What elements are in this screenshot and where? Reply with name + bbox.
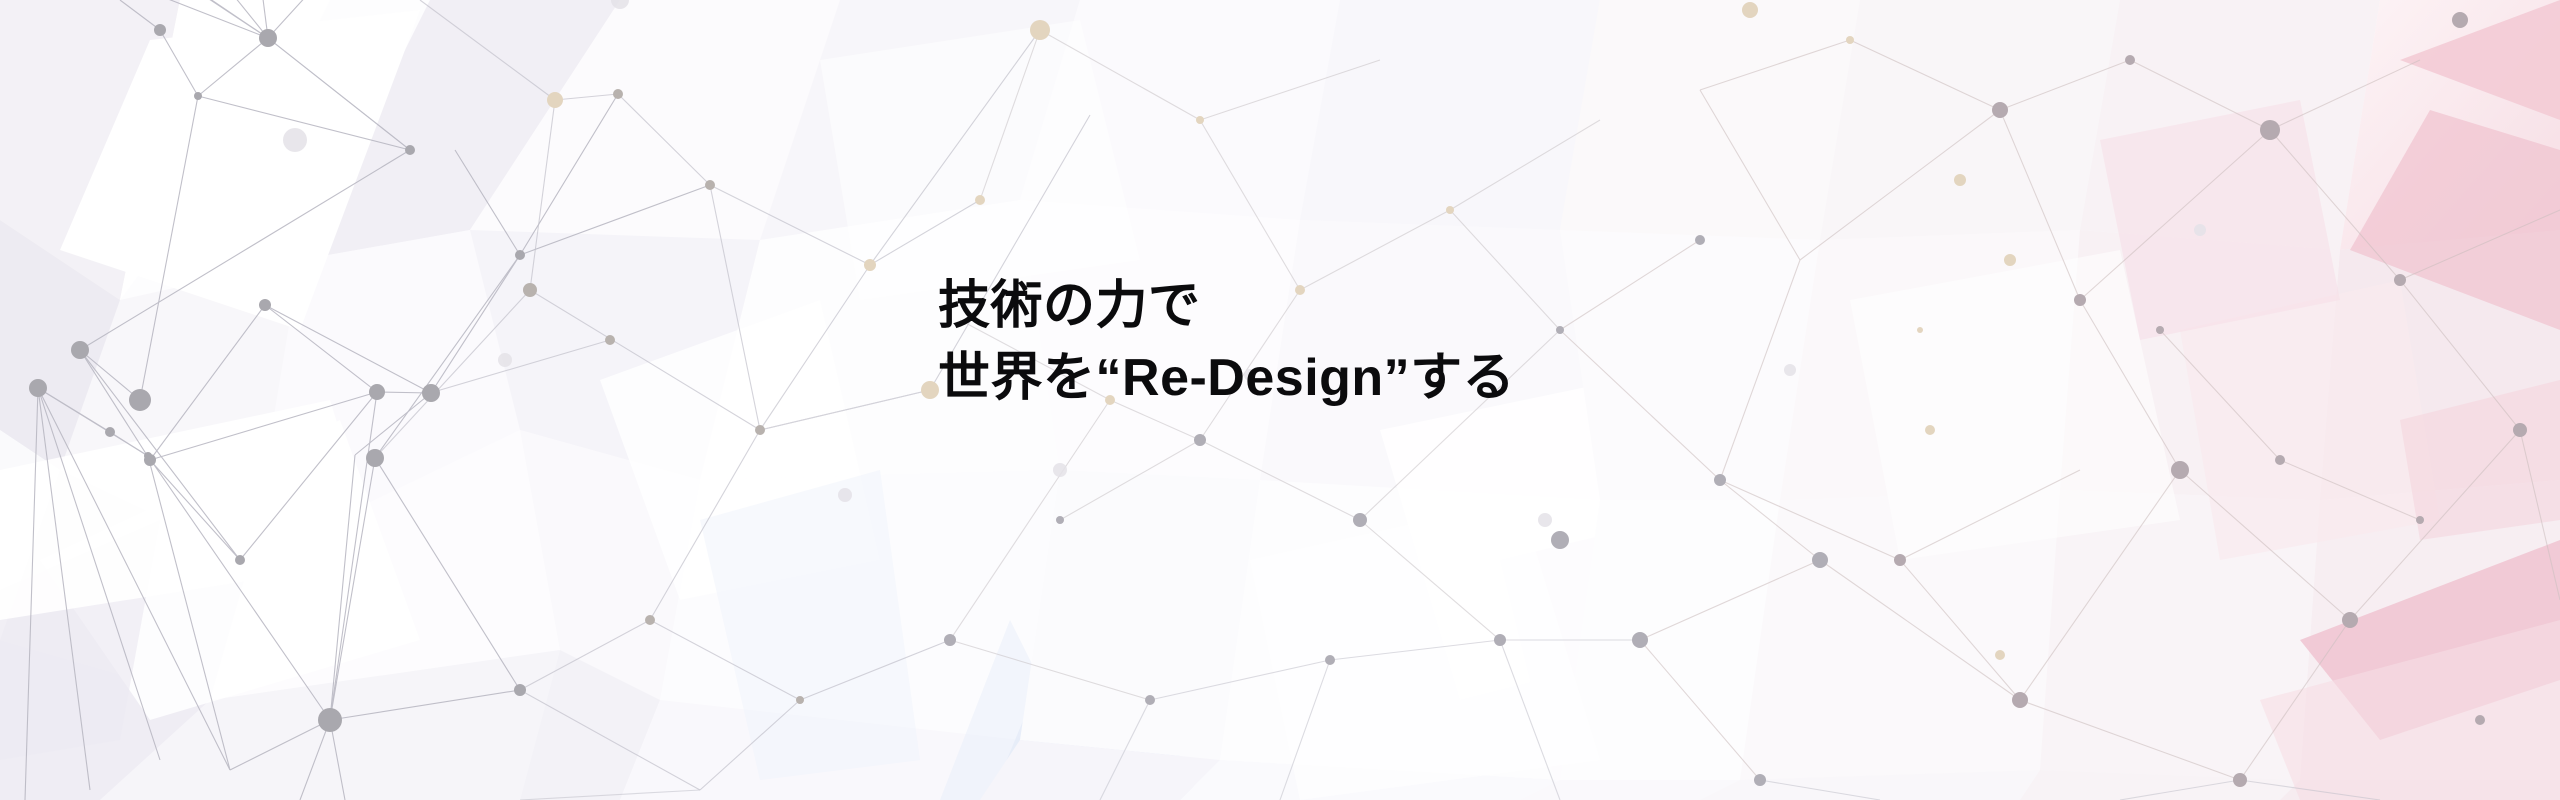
headline-line-2-suffix: する (1410, 349, 1515, 407)
headline-line-1: 技術の力で (938, 270, 1515, 342)
headline-line-2: 世界を“Re-Design”する (938, 342, 1515, 414)
page-title: 技術の力で 世界を“Re-Design”する (938, 270, 1515, 414)
hero-banner: 技術の力で 世界を“Re-Design”する (0, 0, 2560, 800)
headline-line-2-quoted: “Re-Design” (1096, 349, 1411, 407)
headline-line-2-prefix: 世界を (938, 349, 1096, 407)
